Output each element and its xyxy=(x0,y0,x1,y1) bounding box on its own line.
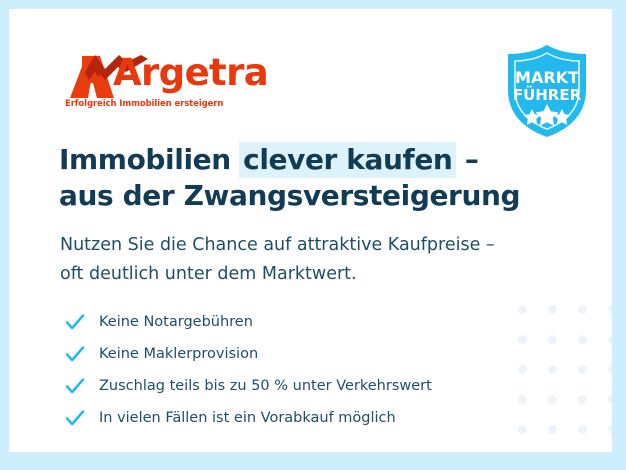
headline-text-post: – xyxy=(455,143,478,176)
subheadline: Nutzen Sie die Chance auf attraktive Kau… xyxy=(60,231,590,289)
decorative-dot xyxy=(548,395,557,404)
decorative-dot xyxy=(608,395,612,404)
check-icon xyxy=(65,345,85,363)
check-icon xyxy=(65,377,85,395)
promo-card: Argetra Erfolgreich Immobilien ersteiger… xyxy=(9,9,612,452)
decorative-dot xyxy=(548,335,557,344)
subheadline-line-1: Nutzen Sie die Chance auf attraktive Kau… xyxy=(60,231,590,260)
headline-line-1: Immobilien clever kaufen – xyxy=(59,142,579,178)
logo-wordmark: Argetra xyxy=(113,51,268,95)
decorative-dot xyxy=(548,305,557,314)
decorative-dot xyxy=(578,335,587,344)
headline-text-pre: Immobilien xyxy=(59,143,240,176)
list-item-label: Zuschlag teils bis zu 50 % unter Verkehr… xyxy=(99,377,432,395)
check-icon xyxy=(65,313,85,331)
logo-tagline: Erfolgreich Immobilien ersteigern xyxy=(65,99,223,109)
decorative-dot xyxy=(578,395,587,404)
decorative-dot xyxy=(608,365,612,374)
list-item-label: In vielen Fällen ist ein Vorabkauf mögli… xyxy=(99,409,396,427)
decorative-dot xyxy=(578,425,587,434)
list-item-label: Keine Notargebühren xyxy=(99,313,253,331)
list-item: Keine Notargebühren xyxy=(65,306,525,338)
page-title: Immobilien clever kaufen – aus der Zwang… xyxy=(59,142,579,214)
badge-line2: FÜHRER xyxy=(513,85,582,104)
benefits-list: Keine Notargebühren Keine Maklerprovisio… xyxy=(65,306,525,434)
headline-line-2: aus der Zwangsversteigerung xyxy=(59,178,579,214)
badge-line1: MARKT xyxy=(515,68,579,87)
decorative-dot xyxy=(578,305,587,314)
decorative-dot xyxy=(608,425,612,434)
market-leader-badge: MARKT FÜHRER xyxy=(499,42,595,140)
argetra-logo: Argetra Erfolgreich Immobilien ersteiger… xyxy=(64,50,284,115)
subheadline-line-2: oft deutlich unter dem Marktwert. xyxy=(60,260,590,289)
check-icon xyxy=(65,409,85,427)
headline-highlight: clever kaufen xyxy=(239,142,456,178)
decorative-dot xyxy=(578,365,587,374)
list-item: Keine Maklerprovision xyxy=(65,338,525,370)
list-item: In vielen Fällen ist ein Vorabkauf mögli… xyxy=(65,402,525,434)
decorative-dot xyxy=(608,335,612,344)
decorative-dot xyxy=(548,365,557,374)
list-item: Zuschlag teils bis zu 50 % unter Verkehr… xyxy=(65,370,525,402)
page-frame: Argetra Erfolgreich Immobilien ersteiger… xyxy=(0,0,626,470)
decorative-dot xyxy=(548,425,557,434)
list-item-label: Keine Maklerprovision xyxy=(99,345,258,363)
decorative-dot xyxy=(608,305,612,314)
decorative-dot-grid xyxy=(518,305,612,452)
